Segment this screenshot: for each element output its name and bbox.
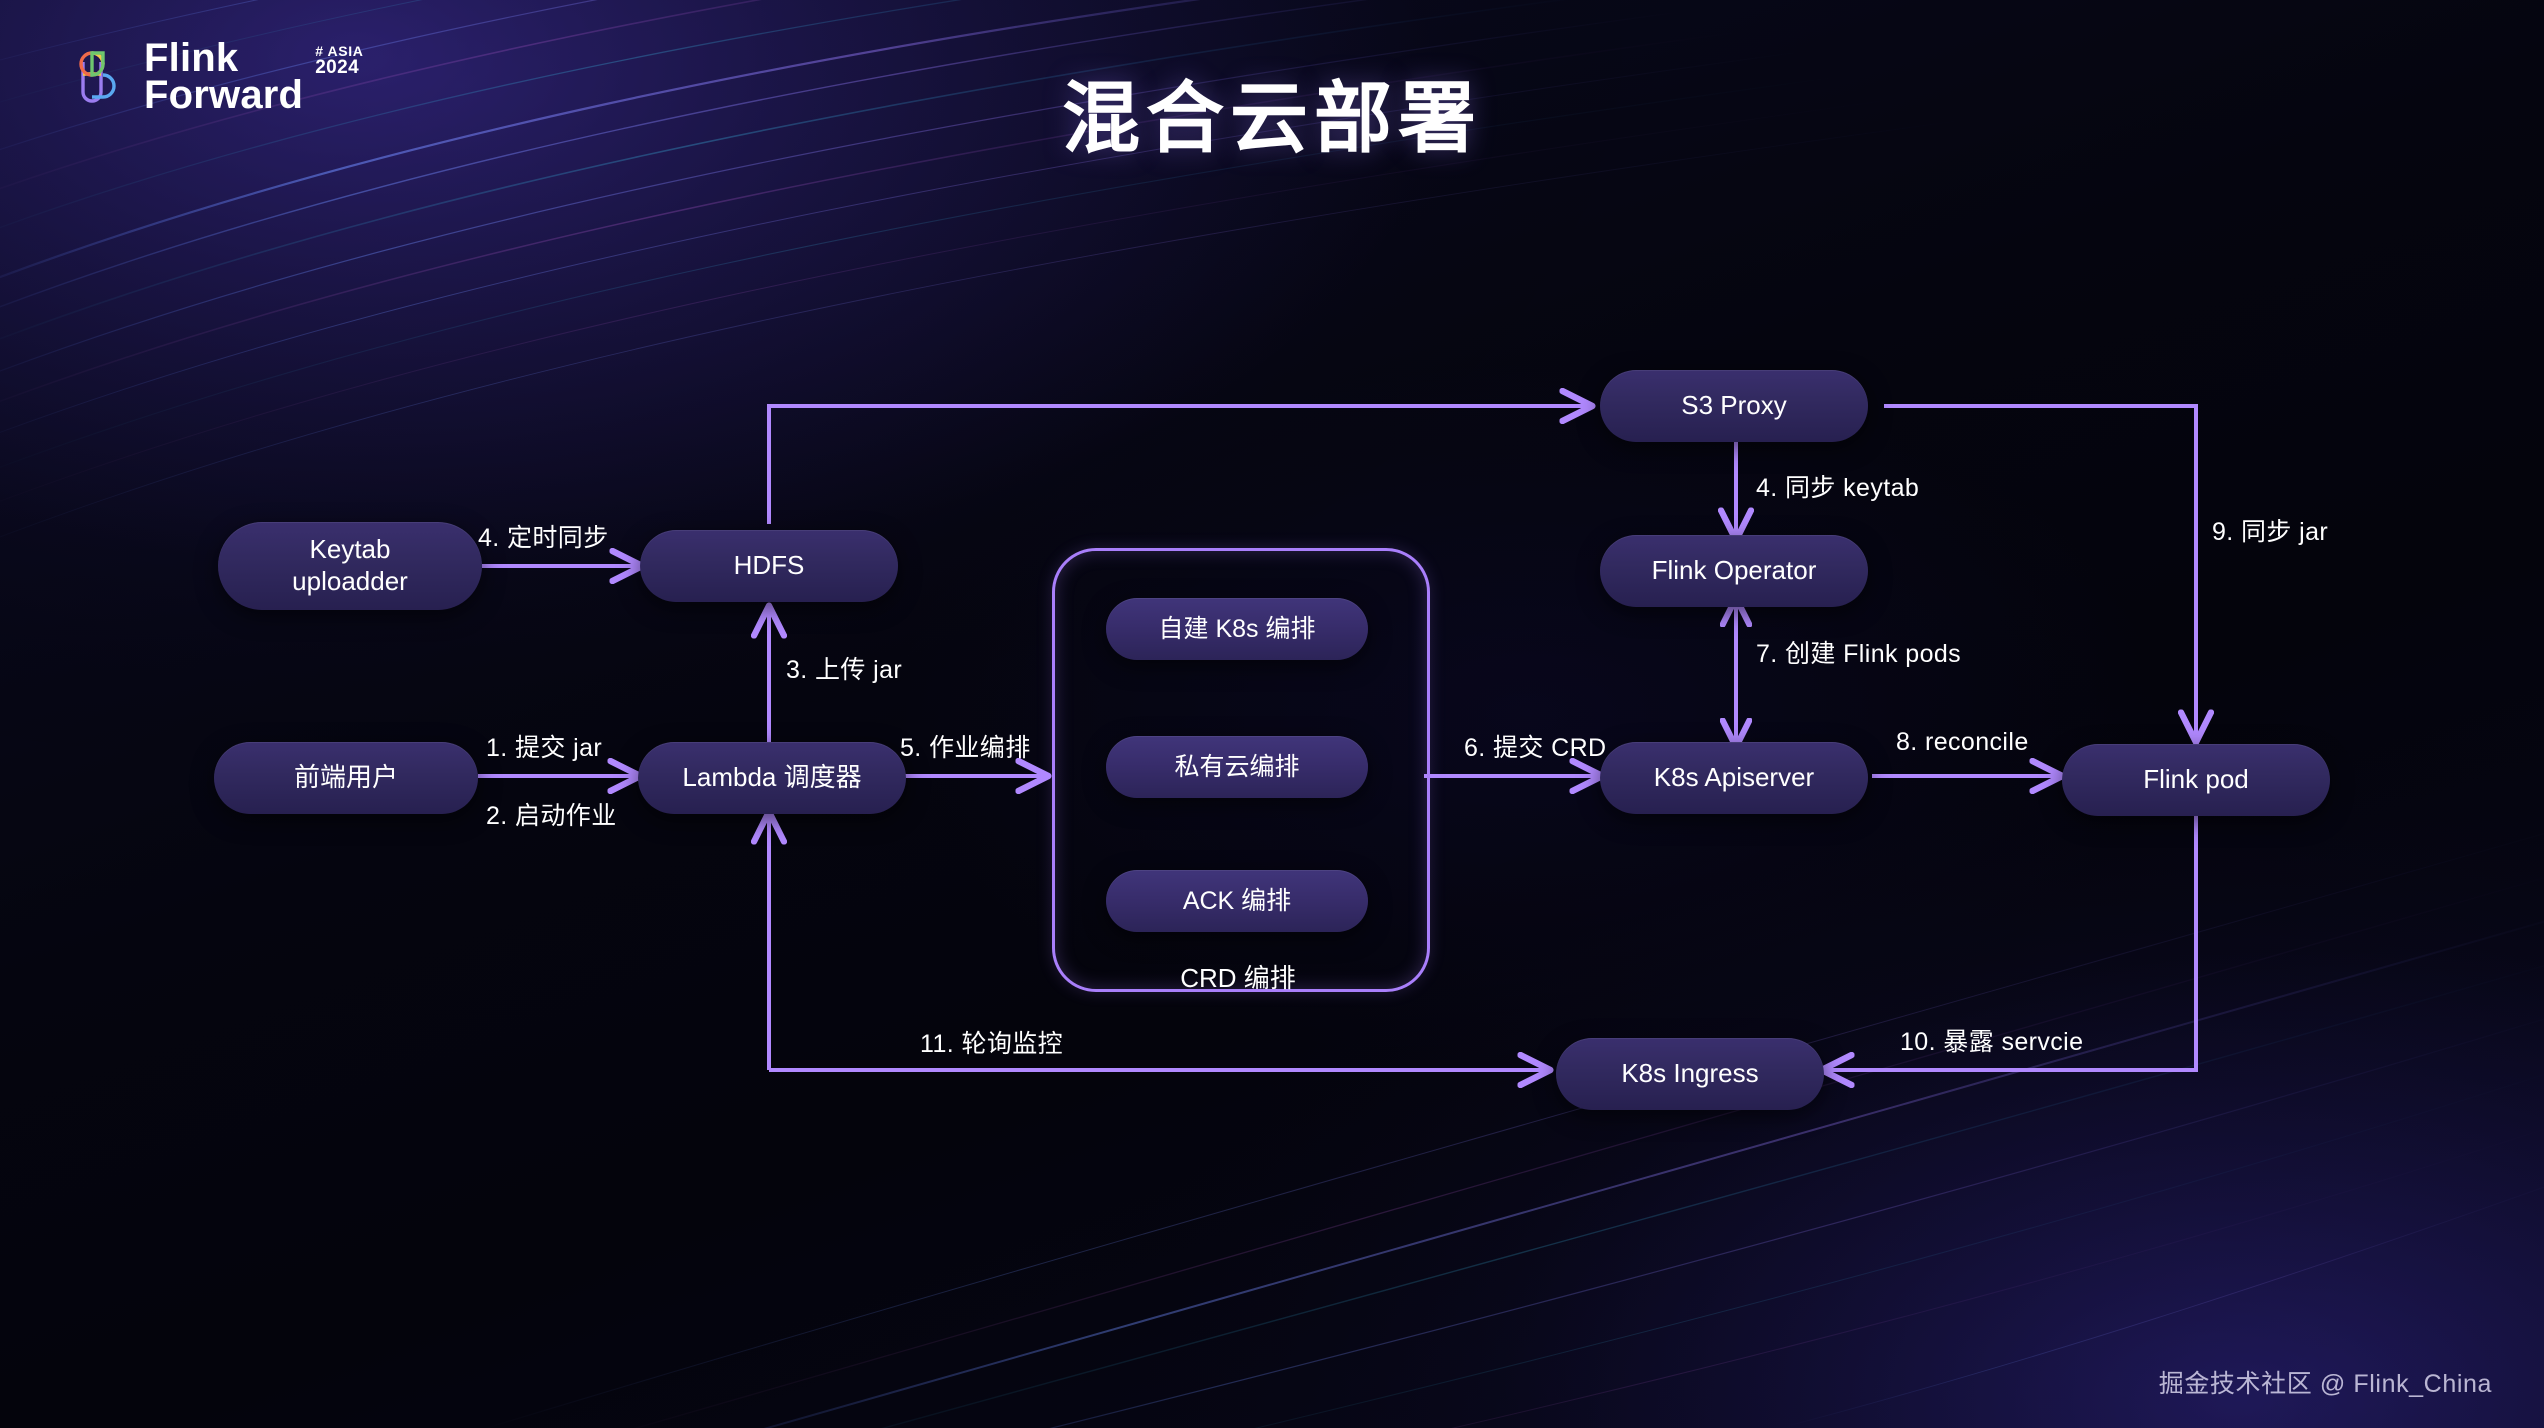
node-label: Flink pod: [2143, 764, 2249, 796]
node-label: Lambda 调度器: [682, 762, 861, 794]
node-label: Keytab uploadder: [292, 534, 408, 597]
crd-item-label: ACK 编排: [1183, 886, 1291, 917]
crd-item-label: 私有云编排: [1174, 752, 1299, 783]
edge-label-4-sync-keytab: 4. 同步 keytab: [1756, 468, 1919, 504]
edge-label-11-poll-monitoring: 11. 轮询监控: [920, 1024, 1063, 1060]
node-flink-operator[interactable]: Flink Operator: [1600, 535, 1868, 607]
edge-label-3-upload-jar: 3. 上传 jar: [786, 650, 902, 686]
edge-label-6-submit-crd: 6. 提交 CRD: [1464, 728, 1607, 764]
node-lambda-scheduler[interactable]: Lambda 调度器: [638, 742, 906, 814]
node-label: Flink Operator: [1652, 555, 1817, 587]
edge-label-2-start-job: 2. 启动作业: [486, 796, 617, 832]
node-label: K8s Apiserver: [1654, 762, 1814, 794]
edge-label-9-sync-jar: 9. 同步 jar: [2212, 512, 2328, 548]
slide-canvas: Flink Forward # ASIA 2024 混合云部署: [0, 0, 2544, 1428]
node-label: HDFS: [734, 550, 805, 582]
node-label: 前端用户: [294, 762, 398, 794]
edge-label-7-create-flink-pods: 7. 创建 Flink pods: [1756, 634, 1961, 670]
crd-item-ack[interactable]: ACK 编排: [1106, 870, 1368, 932]
page-title: 混合云部署: [0, 56, 2544, 168]
crd-item-self-built-k8s[interactable]: 自建 K8s 编排: [1106, 598, 1368, 660]
node-label: K8s Ingress: [1621, 1058, 1758, 1090]
node-flink-pod[interactable]: Flink pod: [2062, 744, 2330, 816]
edge-label-5-job-orchestration: 5. 作业编排: [900, 728, 1031, 764]
node-s3-proxy[interactable]: S3 Proxy: [1600, 370, 1868, 442]
node-k8s-ingress[interactable]: K8s Ingress: [1556, 1038, 1824, 1110]
watermark: 掘金技术社区 @ Flink_China: [2159, 1364, 2492, 1400]
edge-label-4-timed-sync: 4. 定时同步: [478, 518, 609, 554]
node-label: S3 Proxy: [1681, 390, 1787, 422]
edge-label-8-reconcile: 8. reconcile: [1896, 728, 2029, 757]
edge-label-10-expose-service: 10. 暴露 servcie: [1900, 1022, 2083, 1058]
edge-label-1-submit-jar: 1. 提交 jar: [486, 728, 602, 764]
crd-item-label: 自建 K8s 编排: [1159, 614, 1316, 645]
node-k8s-apiserver[interactable]: K8s Apiserver: [1600, 742, 1868, 814]
crd-group-caption: CRD 编排: [1052, 958, 1424, 995]
node-keytab-uploadder[interactable]: Keytab uploadder: [218, 522, 482, 610]
node-hdfs[interactable]: HDFS: [640, 530, 898, 602]
node-frontend-user[interactable]: 前端用户: [214, 742, 478, 814]
crd-item-private-cloud[interactable]: 私有云编排: [1106, 736, 1368, 798]
